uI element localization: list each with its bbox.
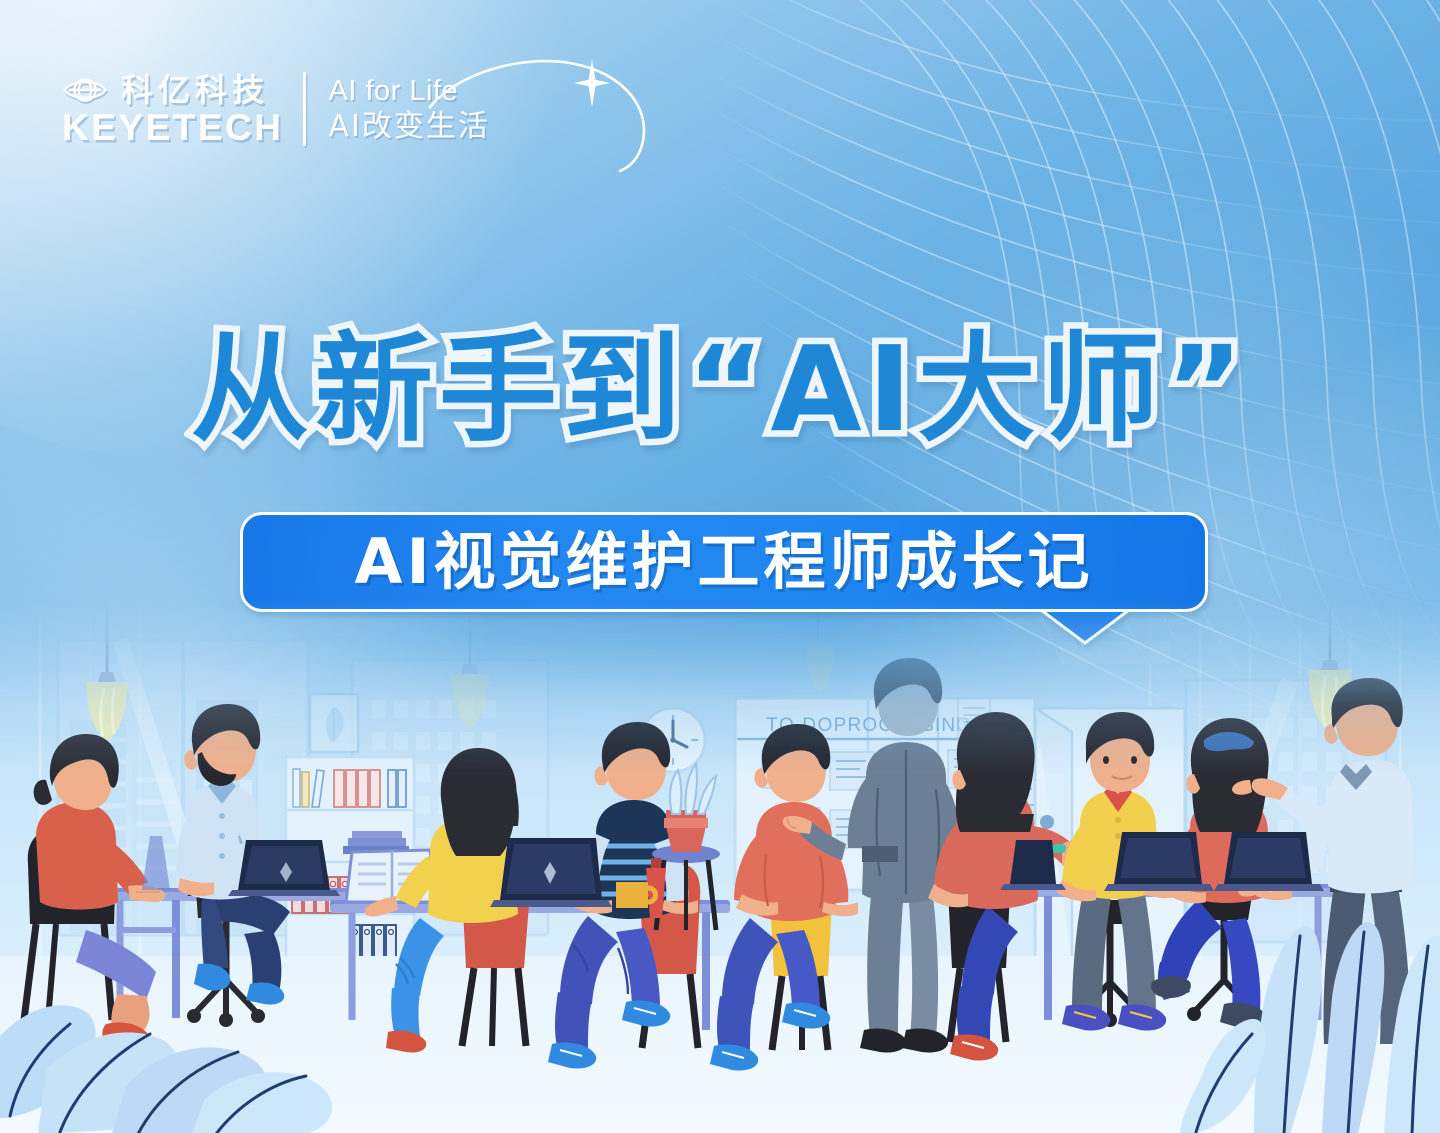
logo-en-name: KEYETECH — [62, 109, 283, 146]
logo-cn-name: 科亿科技 — [121, 74, 269, 106]
tagline-cn: AI改变生活 — [328, 112, 489, 142]
office-illustration: TO DO PROCESSING DONE — [0, 600, 1440, 1133]
page-title: 从新手到“AI大师” — [0, 330, 1440, 448]
poster-root: 科亿科技 KEYETECH AI for Life AI改变生活 从新手到“AI… — [0, 0, 1440, 1133]
brand-logo: 科亿科技 KEYETECH AI for Life AI改变生活 — [62, 72, 550, 146]
logo-name-block: 科亿科技 KEYETECH — [62, 73, 283, 146]
eye-logo-icon — [62, 73, 108, 107]
subtitle-banner-text: AI视觉维护工程师成长记 — [354, 531, 1093, 593]
tagline-en: AI for Life — [328, 77, 489, 106]
logo-divider — [303, 72, 306, 146]
subtitle-banner: AI视觉维护工程师成长记 — [240, 512, 1208, 612]
logo-tagline-block: AI for Life AI改变生活 — [328, 77, 549, 142]
